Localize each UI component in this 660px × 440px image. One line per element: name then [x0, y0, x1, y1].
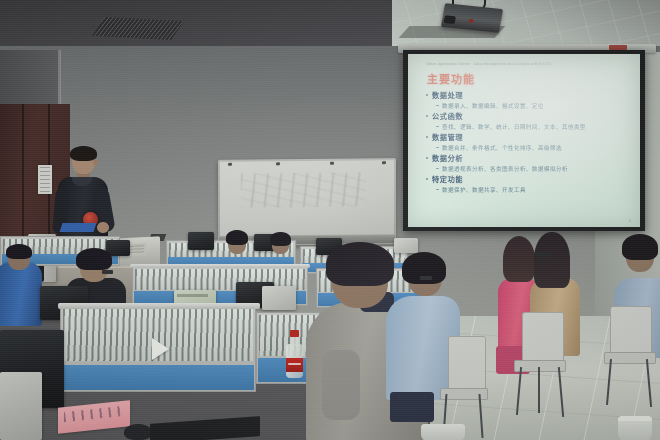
- student-hair: [6, 244, 32, 259]
- slide-section: 数据处理 数据录入、数据编辑、格式设置、定位: [418, 91, 632, 110]
- student-torso: [0, 262, 42, 326]
- air-vent-icon: [92, 17, 184, 40]
- partition-top-rail: [130, 264, 310, 268]
- vent-slats: [92, 17, 184, 40]
- slide-section-heading: 数据处理: [432, 91, 632, 101]
- student-back-row-2: [268, 232, 294, 254]
- slide-section-detail: 数据保护、数据共享、开发工具: [442, 186, 632, 194]
- slide-section-detail: 数据透视表分析、各类图表分析、数据模拟分析: [442, 165, 632, 173]
- slide-section: 数据分析 数据透视表分析、各类图表分析、数据模拟分析: [418, 154, 632, 173]
- slide-section: 数据管理 数据合并、条件格式、个性化排序、高级筛选: [418, 133, 632, 152]
- slide-header-text: Office Application Series · Data Managem…: [426, 62, 642, 66]
- whiteboard-clip: [382, 161, 386, 164]
- bottle-cap: [290, 330, 299, 337]
- pink-label-handwriting: [64, 406, 120, 422]
- projector-lens-icon: [444, 15, 456, 24]
- student-back-row-1: [224, 230, 250, 254]
- eyeglasses-icon: [102, 270, 113, 274]
- blue-folder: [60, 223, 97, 232]
- whiteboard-clip: [228, 163, 232, 166]
- eyeglasses-icon: [420, 276, 432, 280]
- student-hair: [622, 234, 658, 260]
- instructor-hair: [70, 146, 97, 161]
- whiteboard-clip: [276, 162, 280, 165]
- student-hair: [534, 232, 570, 288]
- bottle-label: [286, 358, 303, 372]
- posted-notice: [38, 165, 52, 194]
- slide-bullet-list: 数据处理 数据录入、数据编辑、格式设置、定位 公式函数 查找、逻辑、数学、统计、…: [418, 91, 632, 194]
- student-lower-body: [390, 392, 434, 422]
- projector-status-led: [468, 19, 474, 23]
- student-arm: [322, 350, 360, 420]
- lcd-monitor: [262, 286, 296, 310]
- chair-leg: [606, 359, 612, 405]
- student-hair: [270, 232, 291, 246]
- student-hair: [76, 248, 112, 270]
- chair-leg: [538, 367, 540, 413]
- lcd-monitor-back-panel: [0, 372, 42, 440]
- chair-backrest: [522, 312, 564, 366]
- folding-chair: [600, 306, 658, 406]
- projected-slide: Office Application Series · Data Managem…: [408, 54, 640, 227]
- chair-leg: [478, 394, 483, 438]
- classroom-photo-scene: Office Application Series · Data Managem…: [0, 0, 660, 440]
- slide-title: 主要功能: [427, 71, 632, 87]
- bin-rim: [618, 416, 652, 421]
- folding-chair: [508, 312, 568, 418]
- slide-section-detail: 数据合并、条件格式、个性化排序、高级筛选: [442, 144, 632, 152]
- chair-backrest: [610, 306, 652, 358]
- chair-leg: [516, 367, 522, 415]
- slide-section: 特定功能 数据保护、数据共享、开发工具: [418, 175, 632, 194]
- whiteboard-ghost-writing: [241, 172, 366, 207]
- chair-leg: [646, 359, 652, 407]
- whiteboard-clip: [330, 162, 334, 165]
- paper-cone: [152, 338, 169, 360]
- student-hair: [226, 230, 248, 245]
- slide-section-heading: 数据管理: [432, 133, 632, 143]
- slide-section-heading: 特定功能: [432, 175, 632, 185]
- keyboard: [150, 416, 260, 440]
- slide-section: 公式函数 查找、逻辑、数学、统计、日期时间、文本、其他类型: [418, 112, 632, 131]
- whiteboard-surface: [220, 160, 394, 236]
- chair-leg: [558, 367, 564, 417]
- slide-page-number: 6: [629, 218, 631, 223]
- waste-bin: [421, 424, 465, 440]
- coca-cola-bottle: [286, 330, 303, 378]
- instructor-hand: [97, 222, 109, 233]
- eyeglasses-icon: [536, 252, 549, 257]
- slide-section-detail: 查找、逻辑、数学、统计、日期时间、文本、其他类型: [442, 123, 632, 131]
- waste-bin: [618, 416, 652, 440]
- instructor-ear: [93, 159, 98, 166]
- slide-section-detail: 数据录入、数据编辑、格式设置、定位: [442, 102, 632, 110]
- student-hair: [326, 242, 394, 286]
- computer-mouse: [124, 424, 152, 440]
- chair-backrest: [448, 336, 486, 394]
- partition-base: [62, 365, 254, 390]
- bottle-body: [286, 344, 303, 378]
- partition-top-rail: [58, 303, 260, 309]
- slide-section-heading: 公式函数: [432, 112, 632, 122]
- notice-text-lines: [40, 167, 50, 192]
- folding-chair: [436, 336, 490, 436]
- slide-section-heading: 数据分析: [432, 154, 632, 164]
- lcd-monitor: [188, 232, 214, 250]
- pink-label: [58, 400, 130, 434]
- bottle-neck: [291, 336, 298, 345]
